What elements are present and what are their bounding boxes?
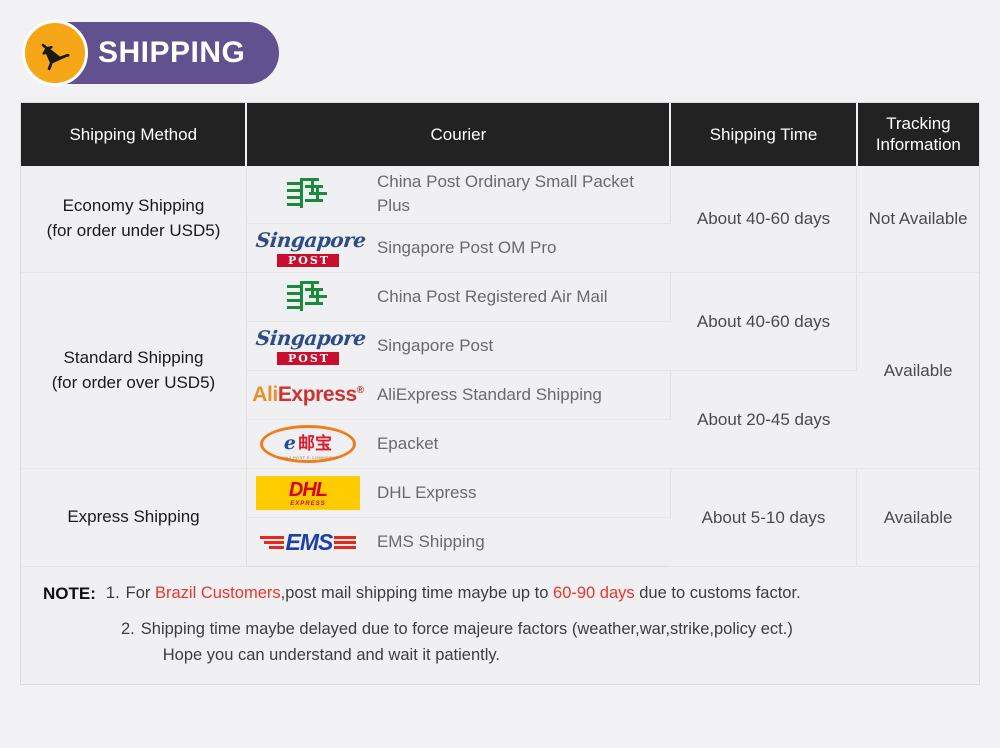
column-header-courier: Courier [246,103,670,166]
epacket-subtitle: CHINA POST E-COMMERCE [277,455,338,460]
singapore-post-logo: Singapore POST [247,328,377,365]
tracking-status: Available [857,273,979,469]
aliexpress-ali-text: Ali [252,383,278,406]
shipping-banner: SHIPPING [24,22,279,84]
shipping-method-express: Express Shipping [21,469,246,567]
registered-mark-icon: ® [357,385,364,396]
note-2-text: Shipping time maybe delayed due to force… [141,617,793,669]
note-label: NOTE: [43,581,96,607]
epacket-e-text: e [284,432,296,454]
ems-wordmark: EMS [286,531,333,554]
tracking-status: Not Available [857,166,979,273]
table-header: Shipping Method Courier Shipping Time Tr… [21,103,979,166]
shipping-method-economy: Economy Shipping (for order under USD5) [21,166,246,273]
courier-name: EMS Shipping [377,530,495,555]
shipping-time-value: About 40-60 days [670,273,856,371]
note-1-text: For Brazil Customers,post mail shipping … [126,581,801,606]
courier-name: DHL Express [377,481,487,506]
shipping-table-container: Shipping Method Courier Shipping Time Tr… [20,102,980,685]
dhl-wordmark: DHL [289,480,327,500]
table-row: Standard Shipping (for order over USD5) [21,273,979,322]
singapore-post-badge: POST [277,254,339,267]
table-header-row: Shipping Method Courier Shipping Time Tr… [21,103,979,166]
singapore-post-wordmark: Singapore [255,230,361,250]
courier-cell: Singapore POST Singapore Post [246,322,670,371]
courier-name: AliExpress Standard Shipping [377,383,612,408]
method-label-line2: (for order under USD5) [29,219,238,244]
china-post-logo [247,277,377,317]
note-1-highlight-brazil: Brazil Customers [155,584,281,602]
shipping-banner-container: SHIPPING [0,0,1000,84]
note-1-number: 1. [106,581,120,606]
shipping-table: Shipping Method Courier Shipping Time Tr… [21,103,979,567]
method-label-line1: Express Shipping [29,505,238,530]
courier-cell: Singapore POST Singapore Post OM Pro [246,224,670,273]
singapore-post-wordmark: Singapore [255,328,361,348]
singapore-post-logo: Singapore POST [247,230,377,267]
courier-cell: China Post Ordinary Small Packet Plus [246,166,670,224]
ems-logo: EMS [247,531,377,554]
column-header-shipping-time: Shipping Time [670,103,856,166]
tracking-status: Available [857,469,979,567]
shipping-time-value: About 5-10 days [670,469,856,567]
singapore-post-badge: POST [277,352,339,365]
shipping-method-standard: Standard Shipping (for order over USD5) [21,273,246,469]
table-row: Express Shipping DHL EXPRESS DHL Express… [21,469,979,518]
courier-name: Singapore Post OM Pro [377,236,567,261]
method-label-line1: Standard Shipping [29,346,238,371]
dhl-express-subtitle: EXPRESS [290,501,325,507]
shipping-time-value: About 40-60 days [670,166,856,273]
aliexpress-logo: AliExpress® [247,383,377,407]
speed-lines-right-icon [334,536,356,549]
note-2-number: 2. [121,617,135,642]
note-1-highlight-days: 60-90 days [553,584,635,602]
airplane-icon [22,20,88,86]
courier-name: Epacket [377,432,448,457]
courier-name: China Post Registered Air Mail [377,285,618,310]
china-post-logo [247,174,377,214]
note-1-part1: For [126,584,155,602]
courier-cell: AliExpress® AliExpress Standard Shipping [246,371,670,420]
column-header-shipping-method: Shipping Method [21,103,246,166]
note-2-line1: Shipping time maybe delayed due to force… [141,620,793,638]
note-2-line2: Hope you can understand and wait it pati… [141,643,793,668]
method-label-line1: Economy Shipping [29,194,238,219]
courier-cell: China Post Registered Air Mail [246,273,670,322]
dhl-logo: DHL EXPRESS [247,476,377,510]
courier-name: Singapore Post [377,334,503,359]
courier-cell: EMS EMS Shipping [246,518,670,567]
epacket-logo: e 邮宝 CHINA POST E-COMMERCE [247,425,377,463]
column-header-tracking-information: Tracking Information [857,103,979,166]
courier-cell: e 邮宝 CHINA POST E-COMMERCE Epacket [246,420,670,469]
method-label-line2: (for order over USD5) [29,371,238,396]
note-1-part2: ,post mail shipping time maybe up to [281,584,553,602]
note-1-part3: due to customs factor. [635,584,801,602]
courier-cell: DHL EXPRESS DHL Express [246,469,670,518]
banner-title: SHIPPING [98,36,245,70]
notes-section: NOTE: 1. For Brazil Customers,post mail … [21,567,979,684]
note-item-2: 2. Shipping time maybe delayed due to fo… [43,617,961,669]
shipping-time-value: About 20-45 days [670,371,856,469]
epacket-chinese-text: 邮宝 [298,429,332,454]
table-body: Economy Shipping (for order under USD5) [21,166,979,567]
speed-lines-left-icon [260,536,284,549]
note-item-1: NOTE: 1. For Brazil Customers,post mail … [43,581,961,607]
courier-name: China Post Ordinary Small Packet Plus [377,170,670,219]
table-row: Economy Shipping (for order under USD5) [21,166,979,224]
aliexpress-express-text: Express [278,383,357,406]
